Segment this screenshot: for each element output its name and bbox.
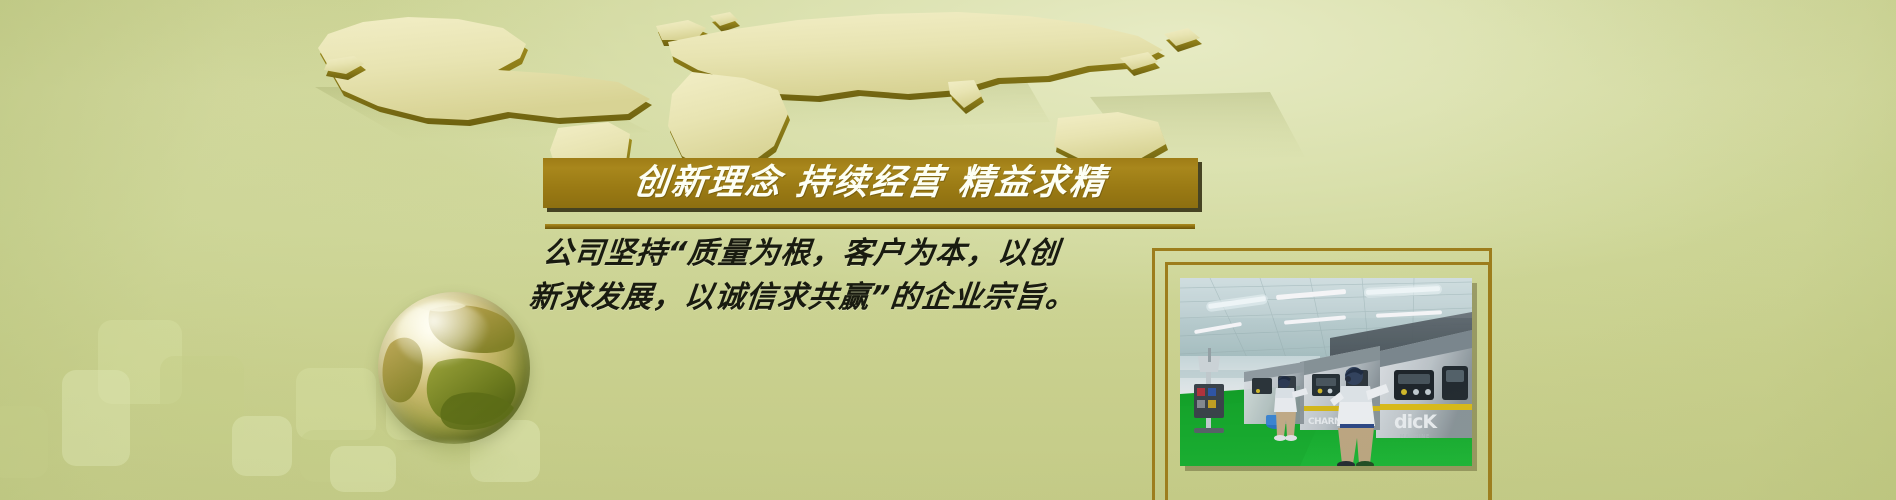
corporate-banner: 创新理念 持续经营 精益求精 公司坚持“质量为根，客户为本，以创 新求发展，以诚…	[0, 0, 1896, 500]
headline-text: 创新理念 持续经营 精益求精	[632, 166, 1109, 201]
slogan-text: 公司坚持“质量为根，客户为本，以创 新求发展，以诚信求共赢”的企业宗旨。	[543, 232, 1183, 320]
headline-underline	[545, 224, 1195, 229]
headline-block: 创新理念 持续经营 精益求精	[543, 158, 1198, 208]
slogan-line-1: 公司坚持“质量为根，客户为本，以创	[541, 232, 1186, 276]
globe-reflection	[392, 442, 516, 490]
globe-graphic	[378, 292, 538, 492]
globe-sphere	[378, 292, 530, 444]
factory-photo: dicK MACHINE CHARMILLES	[1180, 278, 1472, 466]
headline-bar: 创新理念 持续经营 精益求精	[543, 158, 1198, 208]
slogan-line-2: 新求发展，以诚信求共赢”的企业宗旨。	[527, 276, 1186, 320]
factory-workshop-illustration: dicK MACHINE CHARMILLES	[1180, 278, 1472, 466]
globe-rim-light	[378, 292, 530, 444]
